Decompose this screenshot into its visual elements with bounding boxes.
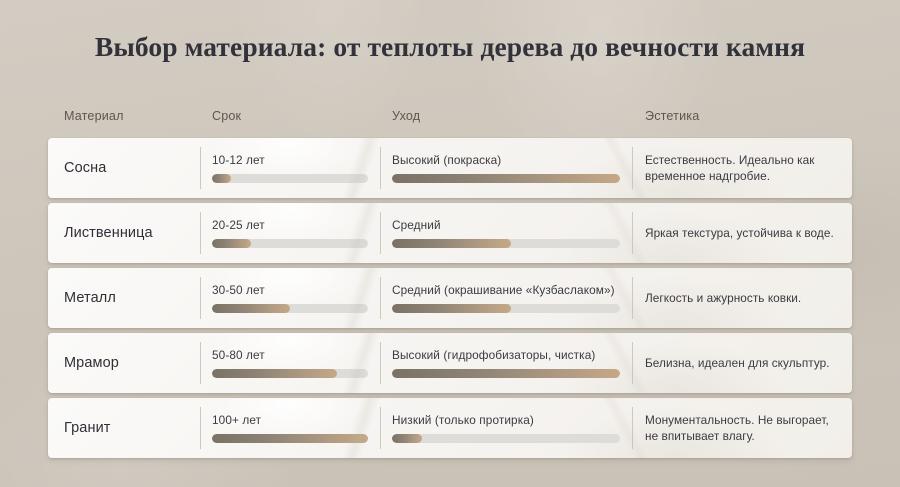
- cell-aesthetic-text: Белизна, идеален для скульптур.: [645, 333, 843, 393]
- column-divider: [632, 147, 633, 189]
- term-meter-fill: [212, 304, 290, 313]
- cell-aesthetic-text: Монументальность. Не выгорает, не впитыв…: [645, 398, 843, 458]
- cell-material-name: Металл: [64, 268, 196, 328]
- material-comparison-infographic: Выбор материала: от теплоты дерева до ве…: [0, 0, 900, 487]
- cell-care: Низкий (только протирка): [392, 398, 620, 458]
- term-meter-fill: [212, 434, 368, 443]
- cell-material-name: Сосна: [64, 138, 196, 198]
- term-label: 100+ лет: [212, 413, 368, 427]
- care-label: Высокий (покраска): [392, 153, 620, 167]
- care-label: Средний: [392, 218, 620, 232]
- care-label: Средний (окрашивание «Кузбаслаком»): [392, 283, 620, 297]
- care-label: Низкий (только протирка): [392, 413, 620, 427]
- care-meter-track: [392, 174, 620, 183]
- cell-care: Средний (окрашивание «Кузбаслаком»): [392, 268, 620, 328]
- column-divider: [200, 407, 201, 449]
- column-divider: [632, 342, 633, 384]
- cell-term: 10-12 лет: [212, 138, 368, 198]
- column-divider: [632, 277, 633, 319]
- care-meter-track: [392, 239, 620, 248]
- term-meter-fill: [212, 174, 231, 183]
- care-meter-fill: [392, 369, 620, 378]
- column-header-aesthetic: Эстетика: [645, 109, 699, 123]
- term-meter-fill: [212, 239, 251, 248]
- cell-term: 30-50 лет: [212, 268, 368, 328]
- term-meter-track: [212, 174, 368, 183]
- cell-aesthetic-text: Естественность. Идеально как временное н…: [645, 138, 843, 198]
- column-divider: [200, 147, 201, 189]
- column-divider: [632, 407, 633, 449]
- cell-care: Средний: [392, 203, 620, 263]
- column-divider: [380, 407, 381, 449]
- column-header-care: Уход: [392, 109, 420, 123]
- column-divider: [380, 342, 381, 384]
- care-meter-fill: [392, 239, 511, 248]
- term-label: 10-12 лет: [212, 153, 368, 167]
- column-divider: [200, 212, 201, 254]
- term-meter-track: [212, 239, 368, 248]
- column-divider: [632, 212, 633, 254]
- page-title: Выбор материала: от теплоты дерева до ве…: [0, 31, 900, 63]
- cell-aesthetic-text: Легкость и ажурность ковки.: [645, 268, 843, 328]
- care-meter-fill: [392, 174, 620, 183]
- care-meter-fill: [392, 304, 511, 313]
- care-meter-fill: [392, 434, 422, 443]
- column-header-term: Срок: [212, 109, 241, 123]
- term-label: 50-80 лет: [212, 348, 368, 362]
- column-divider: [200, 277, 201, 319]
- column-divider: [200, 342, 201, 384]
- cell-term: 20-25 лет: [212, 203, 368, 263]
- cell-material-name: Лиственница: [64, 203, 196, 263]
- cell-term: 50-80 лет: [212, 333, 368, 393]
- table-row-4[interactable]: Гранит 100+ лет Низкий (только протирка)…: [48, 398, 852, 458]
- term-meter-track: [212, 369, 368, 378]
- column-divider: [380, 212, 381, 254]
- column-divider: [380, 147, 381, 189]
- cell-care: Высокий (гидрофобизаторы, чистка): [392, 333, 620, 393]
- cell-aesthetic-text: Яркая текстура, устойчива к воде.: [645, 203, 843, 263]
- column-divider: [380, 277, 381, 319]
- table-row-3[interactable]: Мрамор 50-80 лет Высокий (гидрофобизатор…: [48, 333, 852, 393]
- term-meter-fill: [212, 369, 337, 378]
- cell-material-name: Мрамор: [64, 333, 196, 393]
- column-header-material: Материал: [64, 109, 124, 123]
- term-label: 20-25 лет: [212, 218, 368, 232]
- care-meter-track: [392, 369, 620, 378]
- cell-term: 100+ лет: [212, 398, 368, 458]
- cell-material-name: Гранит: [64, 398, 196, 458]
- care-meter-track: [392, 304, 620, 313]
- term-meter-track: [212, 304, 368, 313]
- table-row-0[interactable]: Сосна 10-12 лет Высокий (покраска) Естес…: [48, 138, 852, 198]
- term-meter-track: [212, 434, 368, 443]
- comparison-table: Сосна 10-12 лет Высокий (покраска) Естес…: [48, 138, 852, 463]
- cell-care: Высокий (покраска): [392, 138, 620, 198]
- table-row-1[interactable]: Лиственница 20-25 лет Средний Яркая текс…: [48, 203, 852, 263]
- table-row-2[interactable]: Металл 30-50 лет Средний (окрашивание «К…: [48, 268, 852, 328]
- term-label: 30-50 лет: [212, 283, 368, 297]
- care-label: Высокий (гидрофобизаторы, чистка): [392, 348, 620, 362]
- care-meter-track: [392, 434, 620, 443]
